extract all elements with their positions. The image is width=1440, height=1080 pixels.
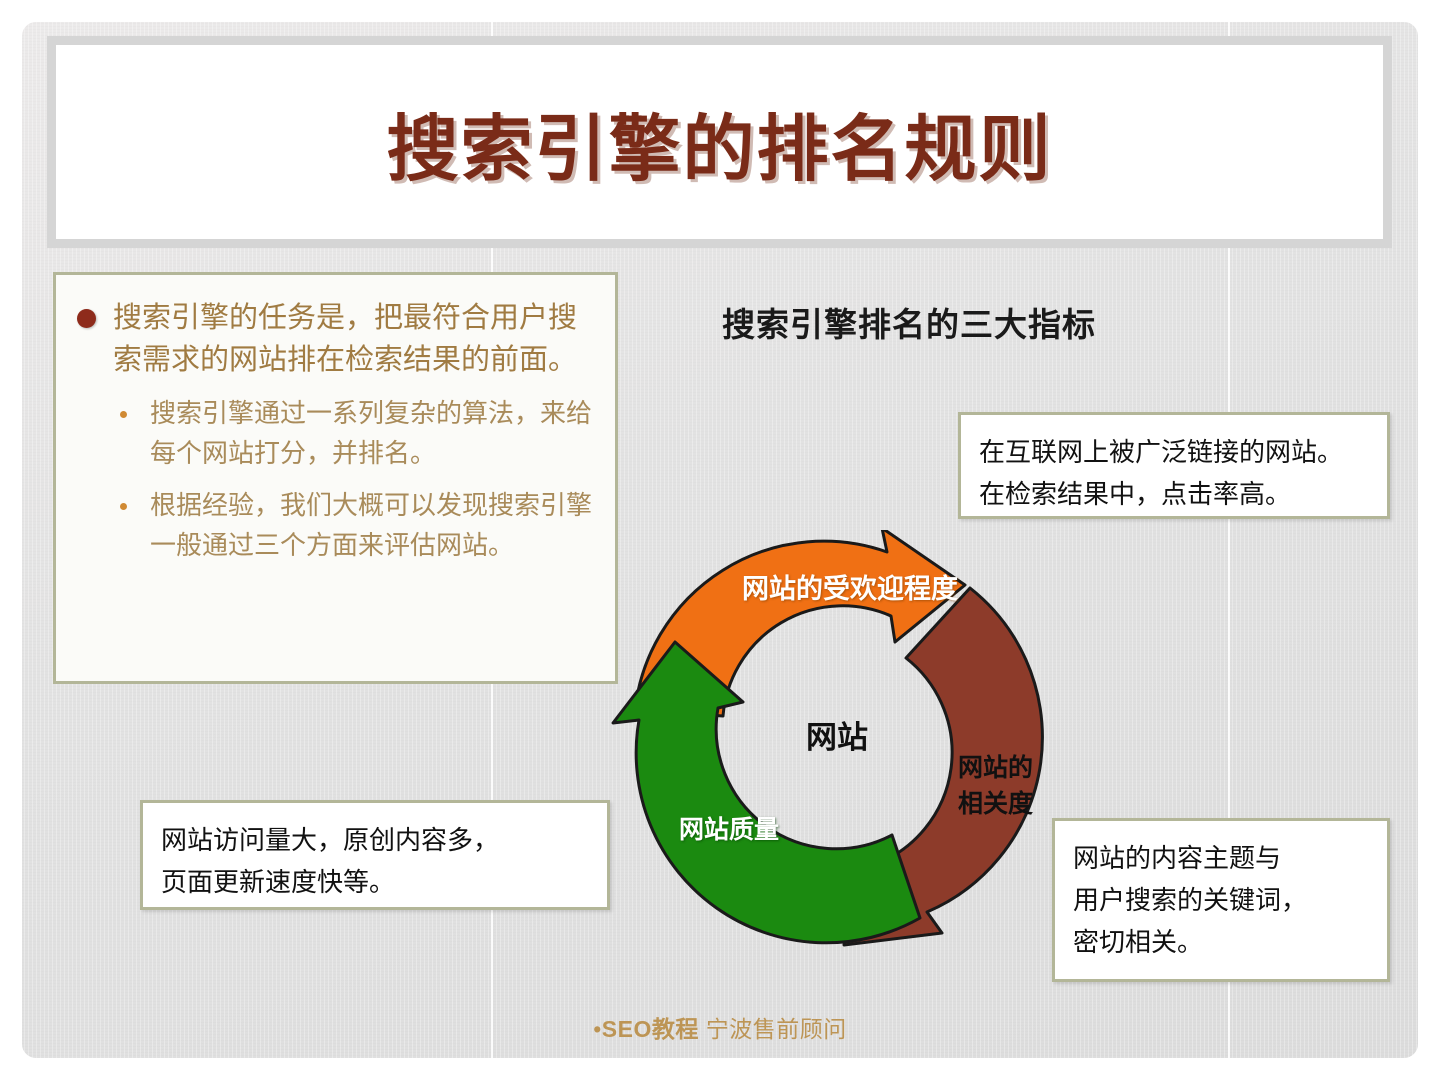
sub-bullet-text: 根据经验，我们大概可以发现搜索引擎一般通过三个方面来评估网站。 — [150, 486, 595, 565]
sub-bullet-text: 搜索引擎通过一系列复杂的算法，来给每个网站打分，并排名。 — [150, 394, 595, 473]
callout-quality: 网站访问量大，原创内容多， 页面更新速度快等。 — [140, 800, 610, 910]
list-item: 搜索引擎通过一系列复杂的算法，来给每个网站打分，并排名。 — [72, 394, 595, 473]
page-title: 搜索引擎的排名规则 — [386, 90, 1052, 195]
title-frame: 搜索引擎的排名规则 — [47, 36, 1392, 248]
callout-line: 在检索结果中，点击率高。 — [979, 473, 1369, 515]
sub-bullet-dot-icon — [120, 411, 127, 418]
footer-bullet-icon: • — [593, 1016, 602, 1042]
callout-line: 用户搜索的关键词， — [1073, 879, 1369, 921]
left-content-box: 搜索引擎的任务是，把最符合用户搜索需求的网站排在检索结果的前面。 搜索引擎通过一… — [53, 272, 618, 684]
sub-bullet-dot-icon — [120, 503, 127, 510]
footer-brand: SEO教程 — [602, 1016, 699, 1042]
callout-relevance: 网站的内容主题与 用户搜索的关键词， 密切相关。 — [1052, 818, 1390, 982]
callout-line: 密切相关。 — [1073, 921, 1369, 963]
list-item: 根据经验，我们大概可以发现搜索引擎一般通过三个方面来评估网站。 — [72, 486, 595, 565]
callout-line: 网站访问量大，原创内容多， — [161, 819, 589, 861]
cycle-segment-quality — [613, 642, 920, 943]
section-heading: 搜索引擎排名的三大指标 — [722, 298, 1096, 346]
callout-line: 网站的内容主题与 — [1073, 837, 1369, 879]
footer-credit: •SEO教程 宁波售前顾问 — [0, 1010, 1440, 1044]
bullet-dot-icon — [77, 309, 96, 328]
callout-line: 页面更新速度快等。 — [161, 861, 589, 903]
title-inner-panel: 搜索引擎的排名规则 — [56, 45, 1383, 239]
callout-line: 在互联网上被广泛链接的网站。 — [979, 431, 1369, 473]
main-bullet-text: 搜索引擎的任务是，把最符合用户搜索需求的网站排在检索结果的前面。 — [113, 297, 595, 381]
callout-popularity: 在互联网上被广泛链接的网站。 在检索结果中，点击率高。 — [958, 412, 1390, 519]
main-bullet-item: 搜索引擎的任务是，把最符合用户搜索需求的网站排在检索结果的前面。 — [72, 297, 595, 381]
footer-subtitle: 宁波售前顾问 — [699, 1016, 847, 1042]
slide-canvas: 搜索引擎的排名规则 搜索引擎的任务是，把最符合用户搜索需求的网站排在检索结果的前… — [0, 0, 1440, 1080]
cycle-diagram — [595, 530, 1065, 970]
